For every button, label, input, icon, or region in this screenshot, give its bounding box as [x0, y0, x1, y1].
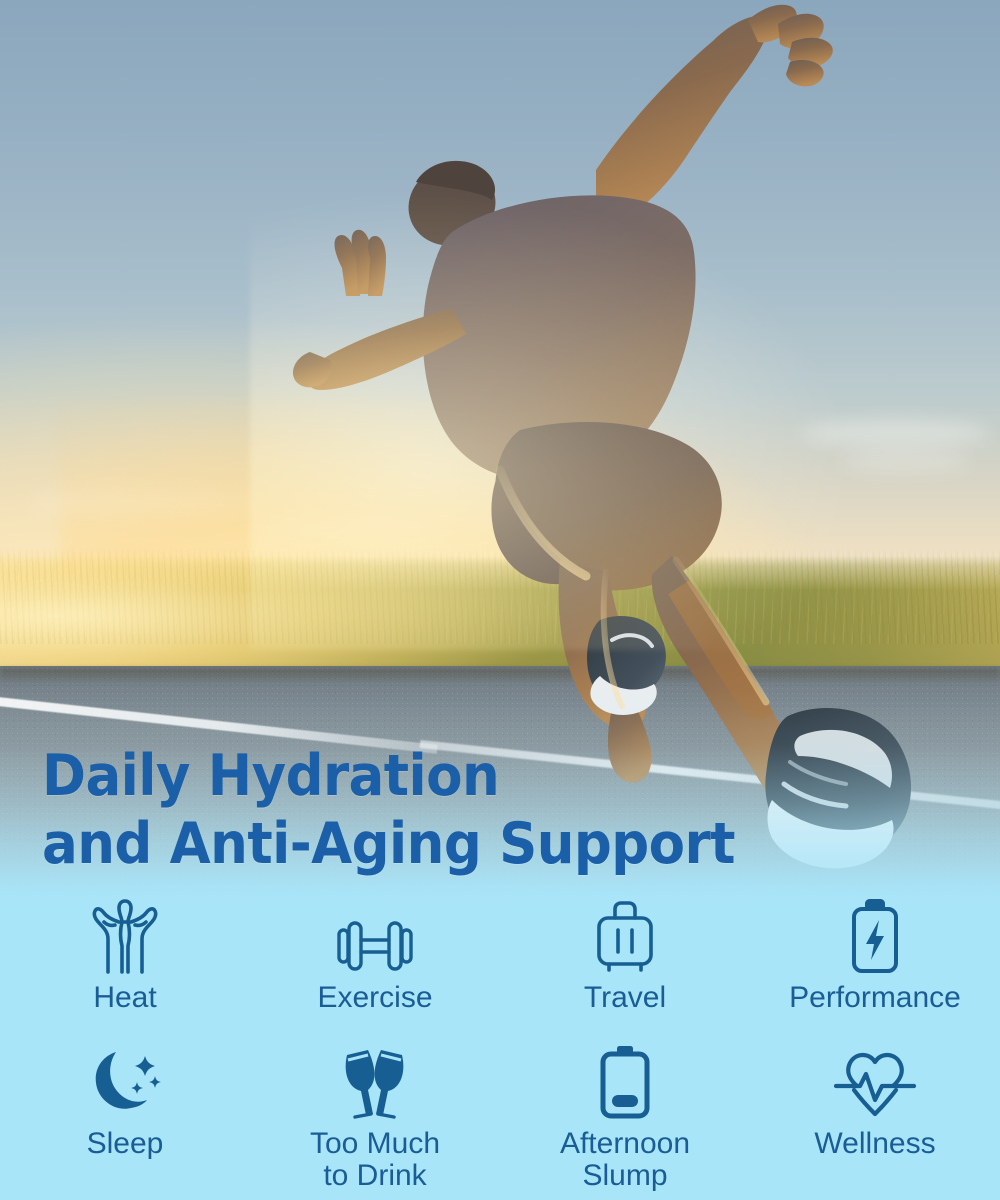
benefit-heat: Heat — [0, 896, 250, 1038]
benefit-travel: Travel — [500, 896, 750, 1038]
runner-near-shoe — [587, 616, 666, 715]
benefit-sleep: Sleep — [0, 1042, 250, 1192]
benefits-row-1: Heat Exercise — [0, 896, 1000, 1038]
suitcase-icon — [595, 896, 655, 976]
benefit-label: Sleep — [87, 1128, 164, 1160]
benefit-label: Wellness — [814, 1128, 935, 1160]
flexing-muscles-icon — [91, 896, 159, 976]
benefit-label: Performance — [789, 982, 961, 1014]
hydration-banner: Daily Hydration and Anti-Aging Support — [0, 0, 1000, 1200]
runner-left-arm — [596, 16, 769, 215]
low-battery-icon — [598, 1042, 652, 1122]
benefits-grid: Heat Exercise — [0, 896, 1000, 1200]
benefit-afternoon-slump: Afternoon Slump — [500, 1042, 750, 1192]
benefit-exercise: Exercise — [250, 896, 500, 1038]
runner-far-shoe — [765, 708, 911, 868]
battery-bolt-icon — [849, 896, 901, 976]
benefit-too-much-to-drink: Too Much to Drink — [250, 1042, 500, 1192]
crescent-moon-stars-icon — [87, 1042, 163, 1122]
benefit-label: Travel — [584, 982, 666, 1014]
page-title: Daily Hydration and Anti-Aging Support — [42, 742, 749, 879]
benefit-label: Heat — [93, 982, 156, 1014]
benefit-label: Exercise — [317, 982, 432, 1014]
benefit-label: Too Much to Drink — [310, 1128, 440, 1192]
benefits-row-2: Sleep — [0, 1042, 1000, 1192]
dumbbell-icon — [335, 896, 415, 976]
benefit-wellness: Wellness — [750, 1042, 1000, 1192]
benefit-performance: Performance — [750, 896, 1000, 1038]
heart-pulse-icon — [830, 1042, 920, 1122]
benefit-label: Afternoon Slump — [560, 1128, 690, 1192]
champagne-glasses-icon — [337, 1042, 413, 1122]
